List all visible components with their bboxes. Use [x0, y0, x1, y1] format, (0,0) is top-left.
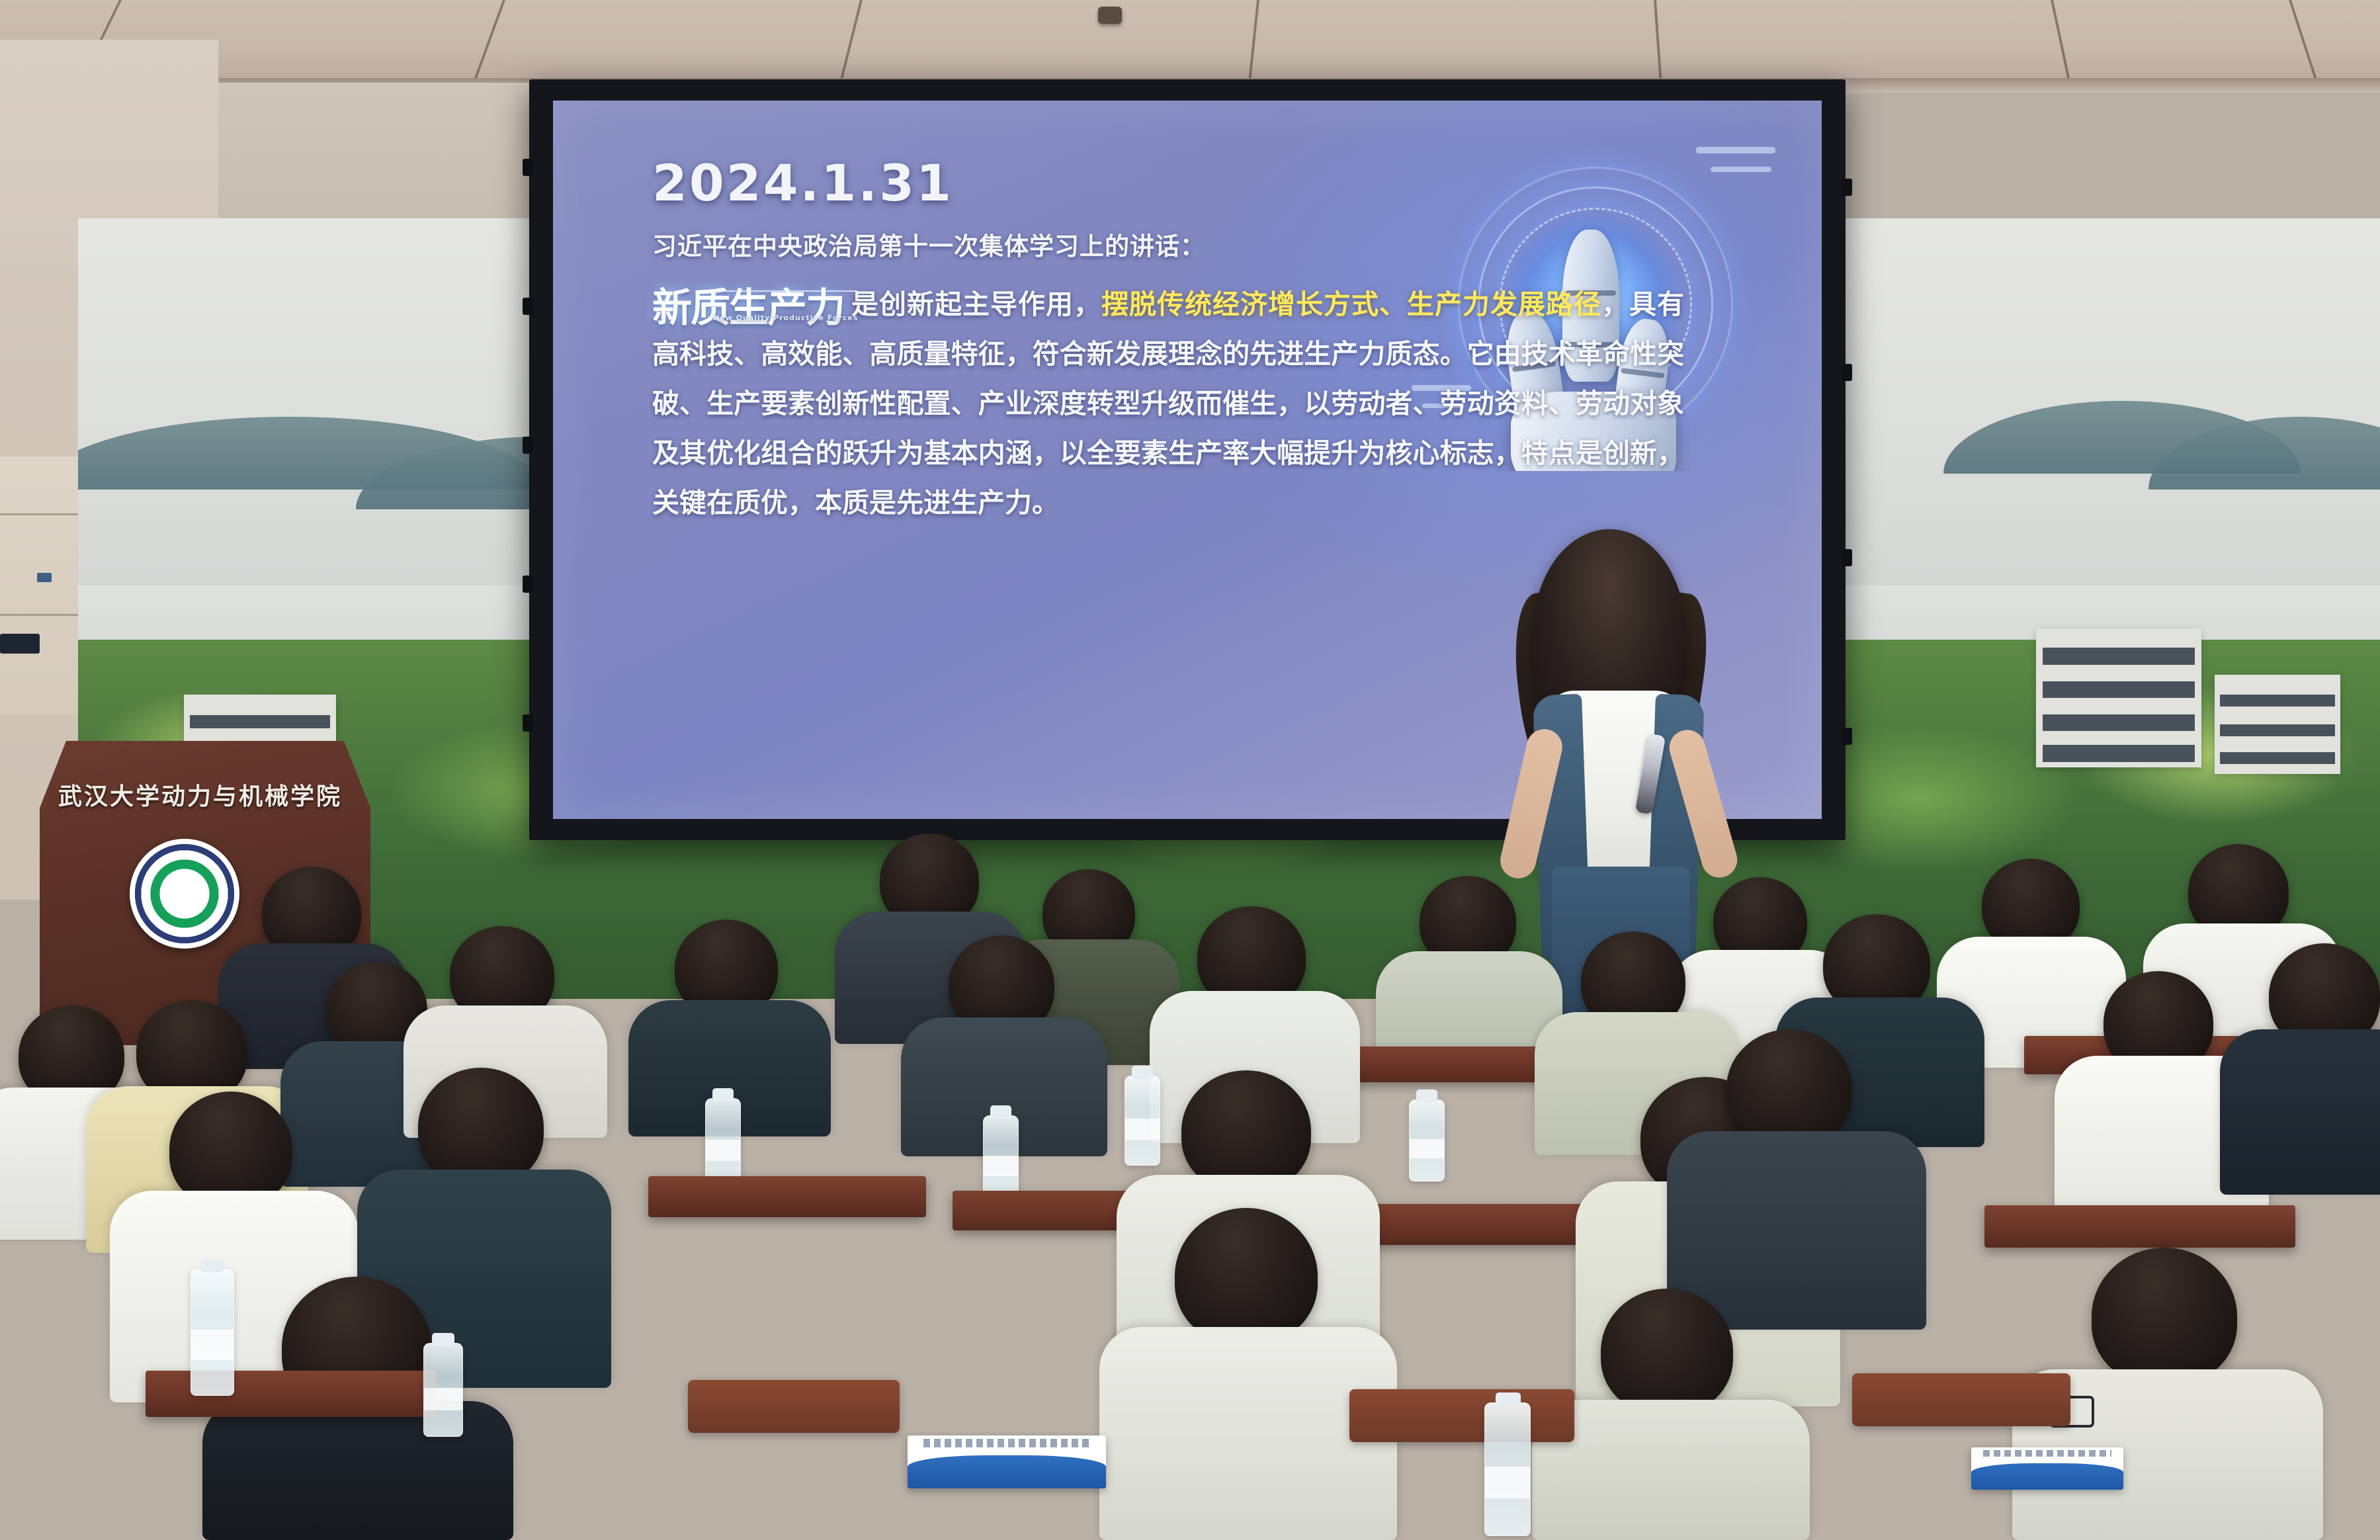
chair-back — [1852, 1373, 2070, 1426]
audience — [0, 814, 2380, 1540]
water-bottle — [1125, 1076, 1160, 1166]
screen-tab — [523, 437, 533, 454]
screen-tab — [1842, 549, 1852, 566]
audience-head — [1181, 1070, 1311, 1192]
logo-english-text: New Quality Productive Forces — [713, 290, 858, 343]
water-bottle — [1484, 1402, 1531, 1536]
water-bottle — [423, 1343, 463, 1437]
desk — [648, 1176, 926, 1217]
wall-dark-recess — [0, 634, 40, 654]
screen-tab — [523, 714, 533, 732]
slide-body: 新质生产力 New Quality Productive Forces 是创新起… — [652, 276, 1684, 528]
podium-sign: 武汉大学动力与机械学院 — [58, 777, 343, 812]
mural-building — [2215, 675, 2340, 774]
audience-head — [1601, 1289, 1733, 1414]
wall-notice-sign — [37, 573, 52, 582]
ceiling — [0, 0, 2380, 89]
desk — [146, 1371, 437, 1417]
screen-tab — [523, 298, 533, 315]
xinzhi-shengchanli-logo: 新质生产力 New Quality Productive Forces — [652, 284, 844, 337]
screen-tab — [523, 576, 533, 593]
slide-subtitle: 习近平在中央政治局第十一次集体学习上的讲话： — [652, 226, 1205, 262]
mural-building — [2036, 628, 2201, 767]
audience-body — [1667, 1131, 1926, 1330]
slide-date: 2024.1.31 — [652, 153, 953, 212]
audience-head — [1175, 1208, 1318, 1344]
slide-body-part1: 是创新起主导作用， — [851, 288, 1101, 320]
audience-body — [2220, 1029, 2380, 1195]
chair-back — [688, 1380, 900, 1433]
water-bottle — [705, 1098, 741, 1185]
water-bottle — [1409, 1099, 1445, 1181]
screen-tab — [1842, 179, 1852, 196]
desk — [1984, 1205, 2295, 1248]
screen-tab — [1842, 364, 1852, 381]
lecture-hall-photo: 2024.1.31 习近平在中央政治局第十一次集体学习上的讲话： 新质生产力 N… — [0, 0, 2380, 1540]
wall-service-panel — [0, 456, 80, 714]
chair-back — [1349, 1389, 1574, 1442]
audience-body — [202, 1401, 513, 1540]
audience-head — [418, 1068, 544, 1187]
wall-upper-strip — [218, 83, 582, 228]
audience-head — [2092, 1248, 2237, 1385]
desk-banner — [908, 1435, 1106, 1488]
slide-body-highlight: 摆脱传统经济增长方式、生产力发展路径 — [1101, 288, 1601, 320]
water-bottle — [983, 1115, 1019, 1200]
water-bottle — [191, 1269, 234, 1396]
screen-tab — [1842, 728, 1852, 745]
sprinkler-icon — [1098, 7, 1122, 24]
audience-head — [1726, 1029, 1852, 1147]
desk-banner — [1971, 1447, 2123, 1490]
screen-tab — [523, 159, 533, 176]
